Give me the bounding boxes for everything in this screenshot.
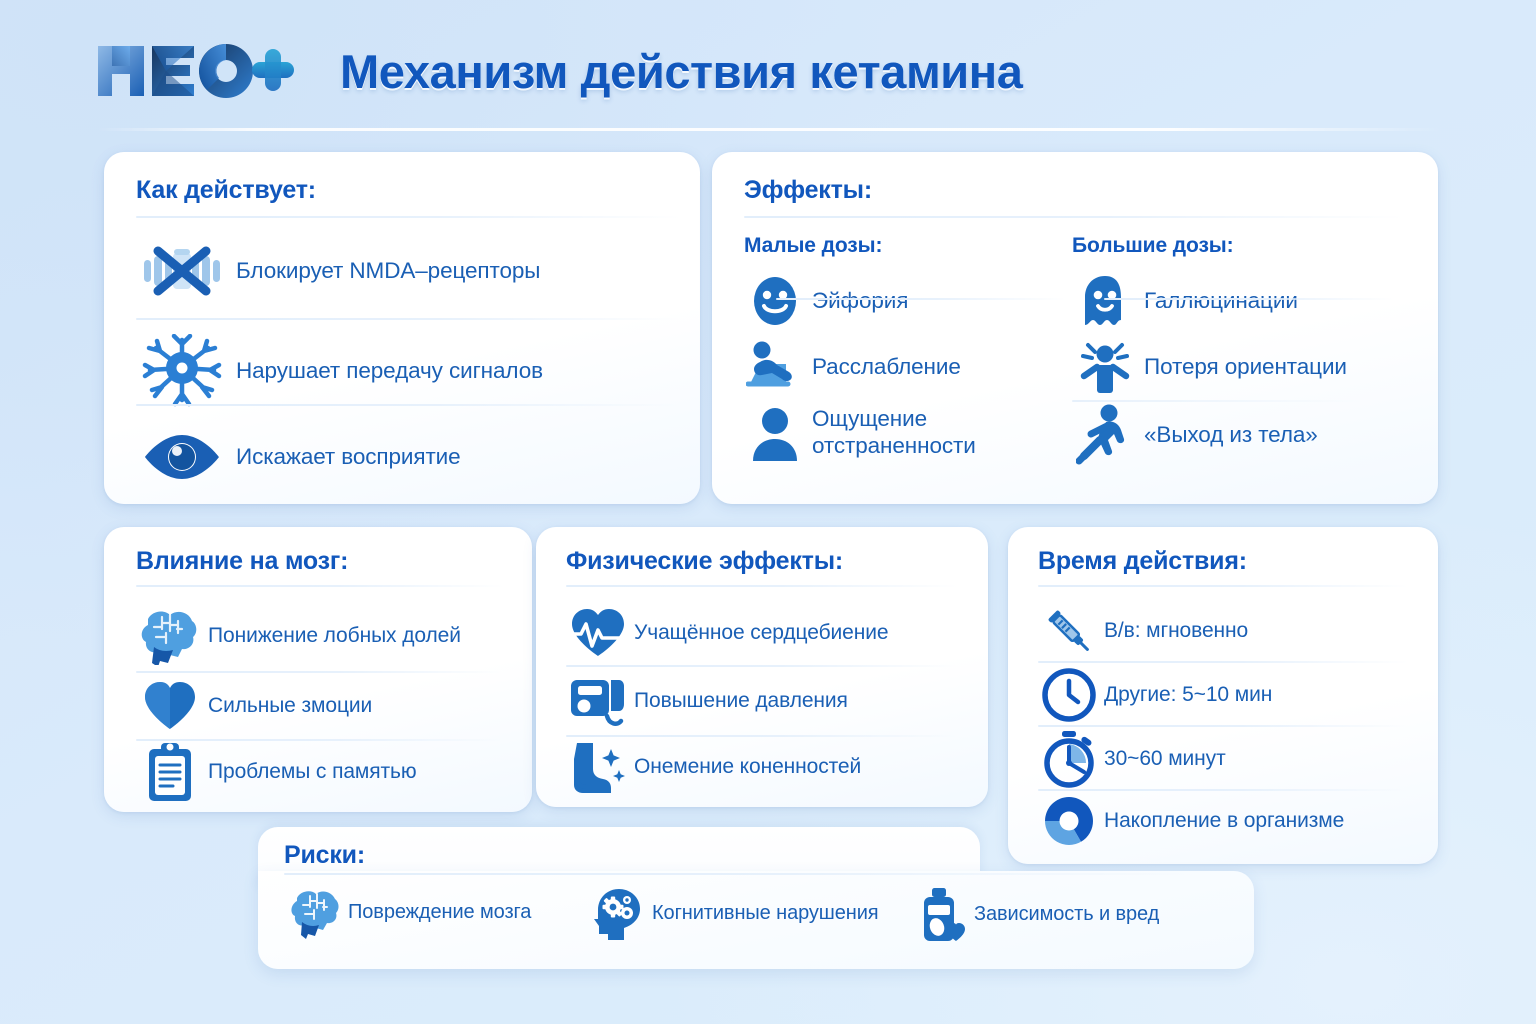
divider [776,298,1066,300]
divider [744,216,1404,218]
list-item-label: «Выход из тела» [1144,422,1318,449]
list-item[interactable]: «Выход из тела» [1072,402,1372,468]
divider [1038,725,1408,727]
divider [1038,585,1408,587]
card-duration: Время действия: В/в: мгновенно [1008,527,1438,864]
list-item-label: Накопление в организме [1104,809,1344,834]
list-item-label: Другие: 5~10 мин [1104,683,1272,708]
list-item-label: Повреждение мозга [348,901,531,925]
infographic-page: Механизм действия кетамина Как действует… [0,0,1536,1024]
divider [566,665,958,667]
list-item-label: В/в: мгновенно [1104,619,1248,644]
list-item[interactable]: Когнитивные нарушения [588,887,879,941]
page-title: Механизм действия кетамина [340,44,1023,99]
list-item[interactable]: Потеря ориентации [1072,334,1372,400]
list-item-label: Повышение давления [634,689,848,714]
divider [136,404,681,406]
donut-chart-icon [1034,794,1104,848]
divider [566,585,958,587]
card-effects: Эффекты: Малые дозы: Эйфория [712,152,1438,504]
header-divider [96,128,1441,131]
divider [136,585,504,587]
divider [1104,298,1394,300]
neuron-icon [136,334,228,408]
list-item-label: Когнитивные нарушения [652,902,879,926]
list-item-label: Галлюцинации [1144,288,1298,315]
card-how-it-works: Как действует: [104,152,700,504]
list-item-label: Расслабление [812,354,961,381]
heart-icon [132,679,208,733]
list-item-label: Учащённое сердцебиение [634,621,888,646]
list-item[interactable]: Другие: 5~10 мин [1034,665,1424,725]
person-bust-icon [744,404,806,462]
list-item-label: Ощущение отстраненности [812,406,976,459]
list-item[interactable]: Сильные змоции [132,673,512,739]
brain-damage-icon [284,887,346,939]
list-item-label: Эйфория [812,288,908,315]
list-item[interactable]: Понижение лобных долей [132,603,512,669]
card-title-physical: Физические эффекты: [566,547,843,576]
pill-bottle-icon [910,887,972,943]
running-person-icon [1072,404,1138,466]
divider [284,873,1204,875]
list-item-label: Сильные змоции [208,694,372,719]
list-item[interactable]: Онемение коненностей [562,735,966,799]
list-item[interactable]: Накопление в организме [1034,791,1424,851]
list-item[interactable]: Проблемы с памятью [132,739,512,805]
list-item-label: 30~60 минут [1104,747,1226,772]
syringe-icon [1034,602,1104,660]
column-title: Малые дозы: [744,234,1044,258]
foot-tingle-icon [562,739,634,795]
reclining-person-icon [744,338,806,396]
blood-pressure-monitor-icon [562,672,634,730]
list-item[interactable]: Зависимость и вред [910,887,1159,943]
list-item-label: Онемение коненностей [634,755,861,780]
divider [136,216,681,218]
list-item-label: Потеря ориентации [1144,354,1347,381]
list-item[interactable]: Блокирует NMDA–рецепторы [136,234,681,308]
list-item-label: Блокирует NMDA–рецепторы [236,258,540,285]
neo-plus-logo [96,40,296,102]
list-item[interactable]: Нарушает передачу сигналов [136,334,681,408]
clock-icon [1034,668,1104,722]
list-item[interactable]: В/в: мгновенно [1034,601,1424,661]
list-item[interactable]: Галлюцинации [1072,268,1372,334]
list-item[interactable]: Повышение давления [562,669,966,733]
list-item[interactable]: Повреждение мозга [284,887,531,939]
card-title-brain: Влияние на мозг: [136,547,348,576]
card-title-effects: Эффекты: [744,176,872,205]
divider [1038,661,1408,663]
list-item[interactable]: Учащённое сердцебиение [562,601,966,665]
list-item-label: Понижение лобных долей [208,624,461,649]
effects-column-low-dose: Малые дозы: Эйфория [744,234,1044,466]
list-item-label: Искажает восприятие [236,444,461,471]
list-item-label: Зависимость и вред [974,903,1159,927]
card-brain-impact: Влияние на мозг: Понижение лобных долей [104,527,532,812]
blocked-receptor-icon [136,241,228,301]
list-item[interactable]: Расслабление [744,334,1044,400]
card-title-risks: Риски: [284,841,365,870]
list-item[interactable]: Ощущение отстраненности [744,400,1044,466]
divider [136,318,681,320]
eye-icon [136,432,228,482]
smiley-face-icon [744,274,806,328]
column-title: Большие дозы: [1072,234,1372,258]
card-risks-body: Повреждение мозга Когн [258,871,1254,969]
effects-column-high-dose: Большие дозы: Галлюцинации [1072,234,1372,468]
head-gears-icon [588,887,650,941]
clipboard-icon [132,741,208,803]
ghost-icon [1072,273,1138,329]
list-item[interactable]: Эйфория [744,268,1044,334]
brain-icon [132,607,208,665]
card-title-time: Время действия: [1038,547,1247,576]
heart-pulse-icon [562,606,634,660]
label-line-1: Ощущение [812,406,927,431]
list-item[interactable]: Искажает восприятие [136,420,681,494]
card-physical-effects: Физические эффекты: Учащённое сердцебиен… [536,527,988,807]
card-title-how: Как действует: [136,176,316,205]
dizzy-person-icon [1072,339,1138,395]
label-line-2: отстраненности [812,433,976,458]
stopwatch-icon [1034,730,1104,788]
list-item-label: Проблемы с памятью [208,760,417,785]
list-item[interactable]: 30~60 минут [1034,729,1424,789]
list-item-label: Нарушает передачу сигналов [236,358,543,385]
